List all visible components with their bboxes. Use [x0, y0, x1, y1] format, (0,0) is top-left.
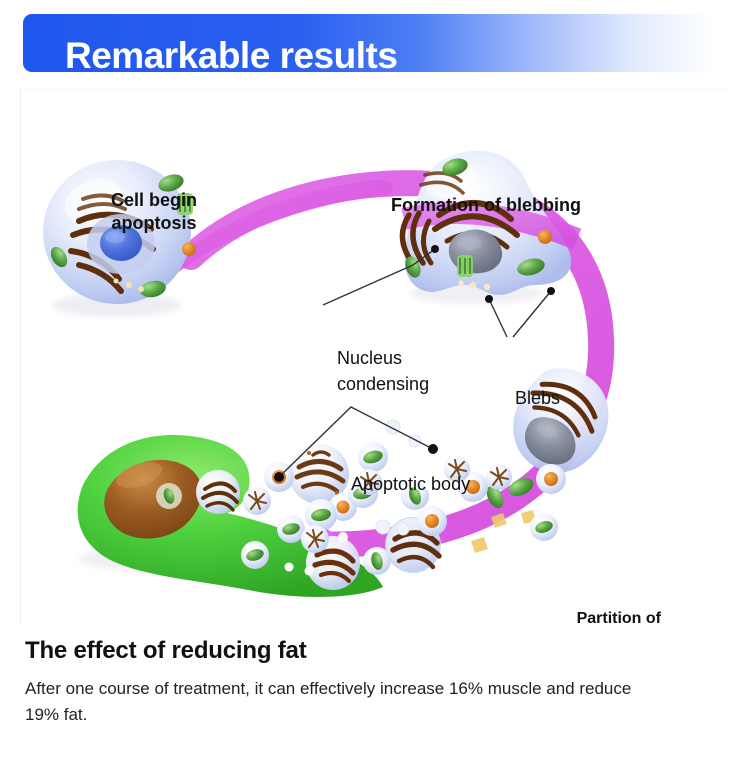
header-banner: Remarkable results: [23, 14, 750, 72]
label-partition-of-cytoplasm: Partition of cytoplasm and nucleus into …: [471, 608, 661, 623]
label-apoptotic-body: Apoptotic body: [351, 471, 470, 497]
label-formation-of-blebbing: Formation of blebbing: [391, 194, 621, 217]
page-root: Remarkable results: [0, 0, 750, 770]
apoptosis-diagram: Cell begin apoptosis Formation of blebbi…: [20, 88, 733, 623]
page-title: Remarkable results: [65, 34, 397, 78]
label-nucleus-line1: Nucleus: [337, 348, 402, 368]
label-nucleus-line2: condensing: [337, 374, 429, 394]
section-body-text: After one course of treatment, it can ef…: [25, 676, 645, 728]
label-blebs: Blebs: [515, 385, 560, 411]
label-cell-begin-line1: Cell begin: [111, 190, 197, 210]
label-nucleus-condensing: Nucleus condensing: [337, 345, 467, 397]
label-cell-begin-line2: apoptosis: [111, 213, 196, 233]
section-title-effect-of-reducing-fat: The effect of reducing fat: [25, 637, 307, 665]
label-partition-line1: Partition of: [577, 610, 661, 623]
label-cell-begin-apoptosis: Cell begin apoptosis: [89, 189, 219, 235]
